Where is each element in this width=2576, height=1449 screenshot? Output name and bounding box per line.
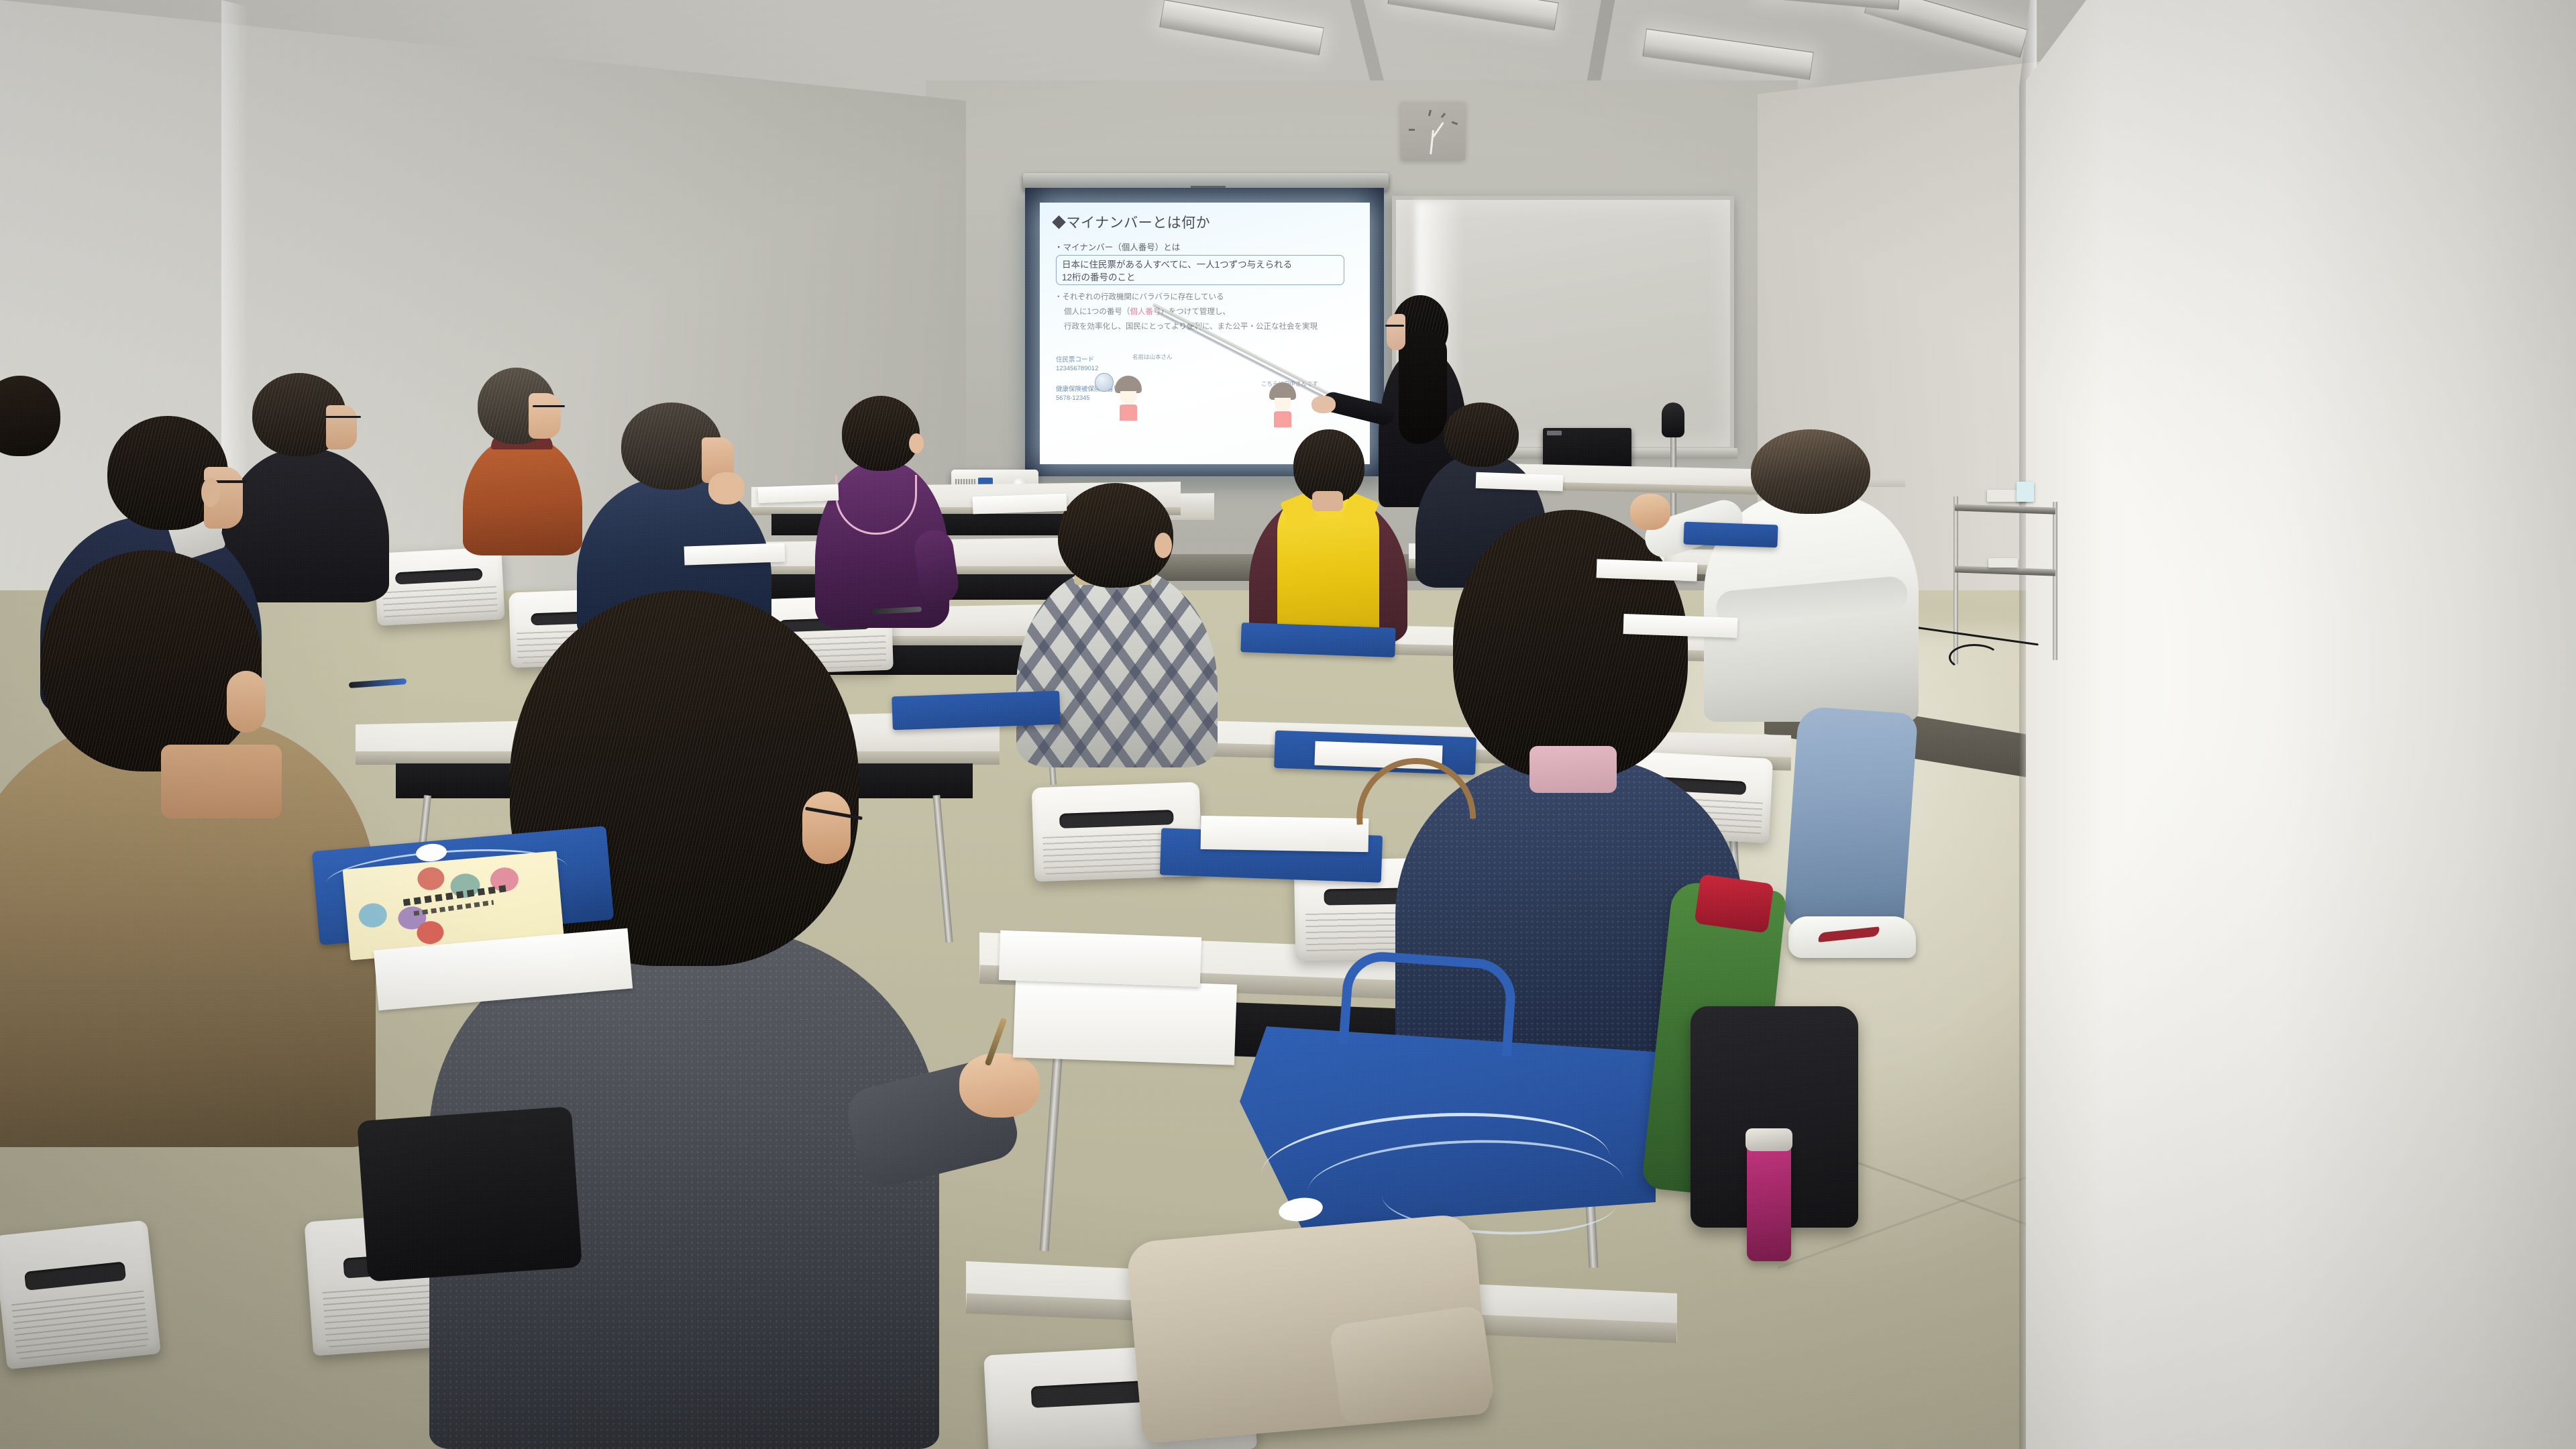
stacking-chair[interactable] [374,547,504,626]
floor-cable [1949,644,2000,671]
chair-handle-slot [1059,810,1174,828]
attendee-hand [1630,494,1670,530]
handout-paper [1013,977,1237,1065]
blue-tote-bag[interactable] [1683,522,1778,548]
stacking-chair[interactable] [0,1220,161,1370]
attendee-neck [1529,746,1617,793]
handout-paper [1623,614,1738,638]
slide-box-line-2: 12桁の番号のこと [1062,271,1338,284]
clock-tick [1452,121,1458,125]
chair-ribs [382,586,498,622]
slide-bullet-3a: 個人に1つの番号（ [1064,308,1130,316]
slide-bullet-2: ・それぞれの行政機関にバラバラに存在している [1055,291,1224,302]
character-face [1275,398,1291,411]
clock-tick [1428,110,1432,116]
slide-globe-icon [1095,373,1114,392]
attendee-ear [1155,533,1172,558]
attendee-ear [802,792,851,864]
attendee-hair [842,396,920,471]
attendee-hair [1751,429,1870,514]
pillar [2026,0,2576,1449]
chair-ribs [11,1291,150,1360]
handout-paper [973,494,1067,515]
wall-clock [1401,102,1465,160]
attendee-glasses [533,405,565,407]
slide-bullet-1: ・マイナンバー（個人番号）とは [1055,240,1180,253]
slide-character-illustration [1269,382,1296,427]
slide-character-illustration [1115,376,1142,421]
clock-tick [1441,113,1446,118]
slide-number-label: 住民票コード [1056,356,1094,364]
clock-minute-hand [1430,130,1434,154]
attendee-hair [1058,483,1173,588]
handout-paper [758,484,839,503]
attendee-hand-on-chin [708,472,745,504]
attendee-neck [1312,491,1343,511]
seminar-room-photo: ◆マイナンバーとは何か ・マイナンバー（個人番号）とは 日本に住民票がある人すべ… [0,0,2576,1449]
slide-caption: 名前は山本さん [1132,353,1173,361]
character-face [1120,391,1136,405]
microphone-icon [1662,402,1684,437]
blue-tote-bag[interactable] [1240,623,1395,657]
blue-tote-bag[interactable] [892,691,1061,731]
projector-vent [955,479,975,484]
attendee-hand [959,1053,1040,1118]
attendee-face [326,405,357,449]
attendee-jeans [1784,706,1919,935]
slide-number-block: 住民票コード 123456789012 [1056,356,1098,373]
booklet-balloon [417,866,445,891]
slide-projection: ◆マイナンバーとは何か ・マイナンバー（個人番号）とは 日本に住民票がある人すべ… [1040,203,1370,464]
chair-handle-slot [24,1261,126,1291]
laptop-logo [1547,431,1562,435]
attendee-face [529,393,561,439]
blanket-fold [1329,1305,1496,1426]
red-pouch [1694,874,1774,934]
attendee-neck [161,745,282,818]
attendee-ear [227,671,266,733]
cart-item [2017,482,2034,502]
tote-handle[interactable] [1338,949,1517,1057]
cart-leg [2053,502,2057,660]
presenter-face [1387,314,1405,350]
character-body [1274,411,1291,427]
attendee-hair [1444,402,1519,467]
character-body [1120,405,1137,421]
presenter-hand [1311,396,1336,413]
slide-number-value: 123456789012 [1056,365,1098,372]
slide-box-line-1: 日本に住民票がある人すべてに、一人1つずつ与えられる [1062,258,1338,271]
presenter-glasses [1385,325,1404,327]
thermos-bottle [1747,1140,1791,1261]
cart-item [1988,558,2018,568]
handout-paper [1597,559,1698,581]
slide-highlight-box: 日本に住民票がある人すべてに、一人1つずつ与えられる 12桁の番号のこと [1056,255,1344,285]
handout-paper [684,543,786,565]
booklet-balloon [358,902,388,929]
attendee-ear [201,478,220,507]
slide-title: ◆マイナンバーとは何か [1052,212,1210,232]
presenter-long-hair [1399,330,1447,444]
attendee-hair [40,550,262,771]
thermos-bottle-cap [1746,1128,1792,1151]
attendee-ear [909,433,924,453]
slide-number-value: 5678-12345 [1056,394,1090,402]
attendee-glasses [325,416,361,418]
handout-paper [999,930,1201,987]
chair-handle-slot [395,568,483,585]
cart-leg [1953,496,1958,664]
cart-shelf [1955,504,2055,514]
black-bag [357,1106,582,1282]
handout-paper [1201,816,1369,852]
slide-bullet-3: 個人に1つの番号（個人番号）をつけて管理し、 [1064,306,1230,317]
slide-bullet-3-highlight: 個人番号 [1130,308,1161,316]
clock-tick [1409,129,1415,131]
handout-paper [1476,472,1564,492]
